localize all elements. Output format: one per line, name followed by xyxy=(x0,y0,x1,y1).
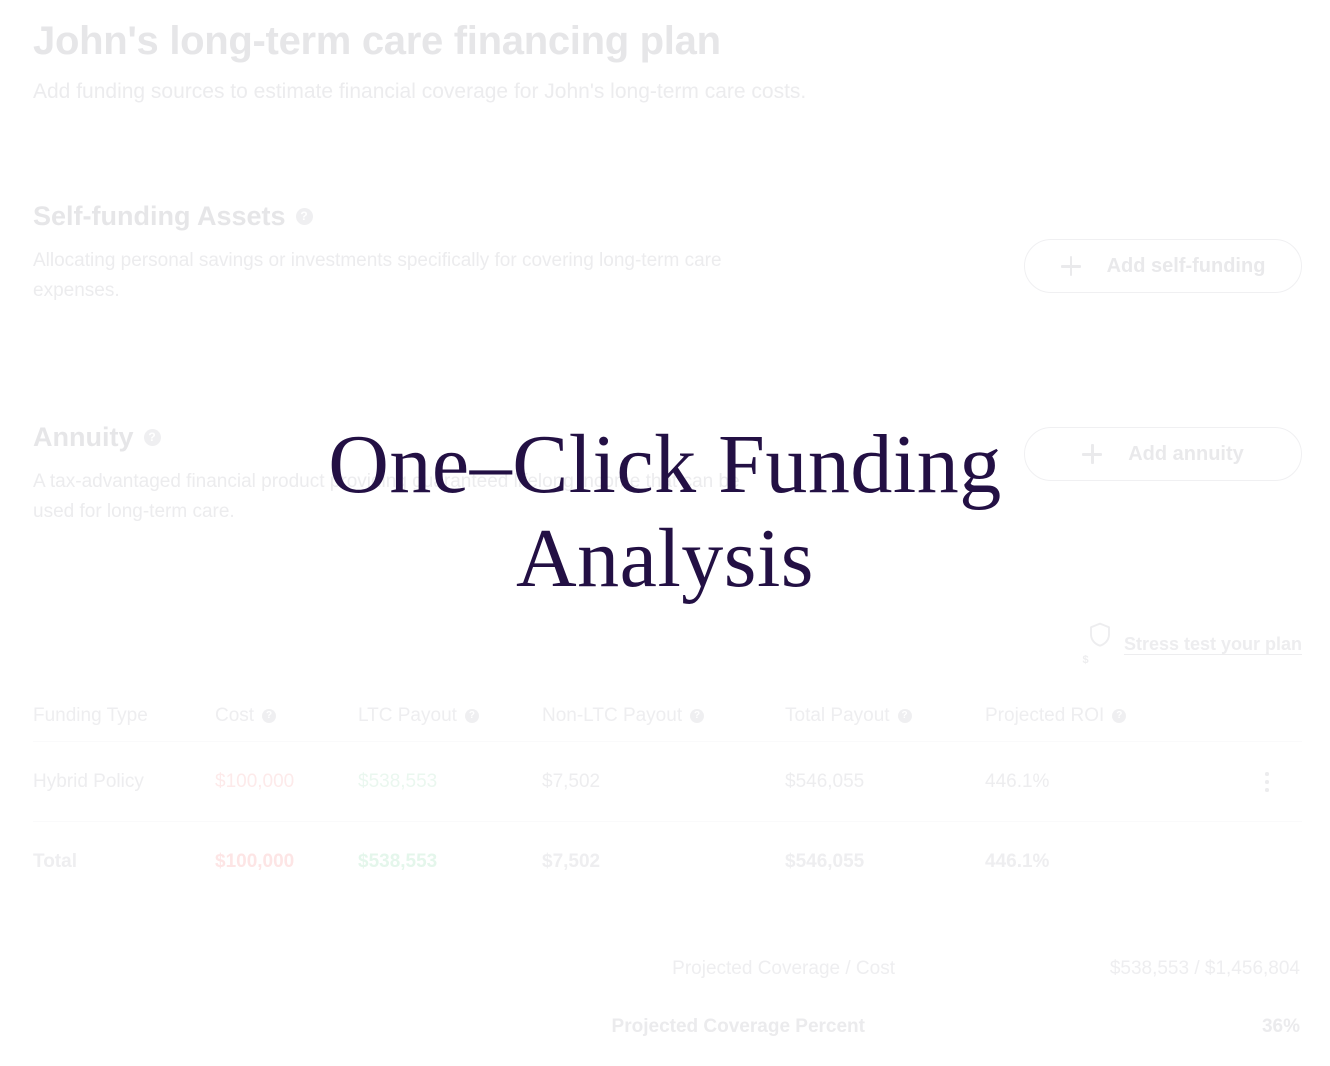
column-header-total-payout: Total Payout xyxy=(785,705,985,727)
summary-value: $538,553 / $1,456,804 xyxy=(895,958,1300,980)
column-header-funding-type: Funding Type xyxy=(33,705,215,727)
section-annuity-title-label: Annuity xyxy=(33,421,134,453)
section-self-funding-description: Allocating personal savings or investmen… xyxy=(33,246,783,305)
total-cost: $100,000 xyxy=(215,851,358,873)
help-circle-icon[interactable] xyxy=(144,429,161,446)
page-header: John's long-term care financing plan Add… xyxy=(33,18,1133,105)
summary-row-projected-coverage-percent: Projected Coverage Percent 36% xyxy=(0,998,1330,1056)
cell-total-payout: $546,055 xyxy=(785,771,985,793)
summary-label: Projected Coverage Percent xyxy=(33,1016,865,1038)
stress-test-link[interactable]: $ Stress test your plan xyxy=(1088,622,1302,666)
cell-non-ltc-payout: $7,502 xyxy=(542,771,785,793)
add-annuity-button[interactable]: Add annuity xyxy=(1024,427,1302,481)
help-circle-icon[interactable] xyxy=(465,709,479,723)
summary-label: Projected Coverage / Cost xyxy=(33,958,895,980)
help-circle-icon[interactable] xyxy=(898,709,912,723)
plus-icon xyxy=(1082,444,1102,464)
help-circle-icon[interactable] xyxy=(296,208,313,225)
total-non-ltc-payout: $7,502 xyxy=(542,851,785,873)
add-annuity-label: Add annuity xyxy=(1128,443,1244,466)
table-header-row: Funding Type Cost LTC Payout Non-LTC Pay… xyxy=(0,690,1330,742)
summary-value: 36% xyxy=(865,1016,1300,1038)
summary-footer: Projected Coverage / Cost $538,553 / $1,… xyxy=(0,940,1330,1056)
cell-cost: $100,000 xyxy=(215,771,358,793)
cell-ltc-payout: $538,553 xyxy=(358,771,542,793)
total-label: Total xyxy=(33,851,215,873)
section-annuity-title: Annuity xyxy=(33,421,833,453)
column-header-ltc-payout: LTC Payout xyxy=(358,705,542,727)
section-annuity-description: A tax-advantaged financial product provi… xyxy=(33,467,783,526)
shield-dollar-icon: $ xyxy=(1088,622,1112,666)
column-header-non-ltc-payout: Non-LTC Payout xyxy=(542,705,785,727)
table-row[interactable]: Hybrid Policy $100,000 $538,553 $7,502 $… xyxy=(0,742,1330,822)
section-self-funding-title: Self-funding Assets xyxy=(33,200,833,232)
page-title: John's long-term care financing plan xyxy=(33,18,1133,64)
section-annuity-text: Annuity A tax-advantaged financial produ… xyxy=(33,421,833,526)
cell-funding-type: Hybrid Policy xyxy=(33,771,215,793)
stress-test-label: Stress test your plan xyxy=(1124,634,1302,655)
help-circle-icon[interactable] xyxy=(262,709,276,723)
summary-row-projected-coverage-cost: Projected Coverage / Cost $538,553 / $1,… xyxy=(0,940,1330,998)
help-circle-icon[interactable] xyxy=(1112,709,1126,723)
section-self-funding-title-label: Self-funding Assets xyxy=(33,200,286,232)
page-subtitle: Add funding sources to estimate financia… xyxy=(33,78,1133,105)
total-total-payout: $546,055 xyxy=(785,851,985,873)
add-self-funding-label: Add self-funding xyxy=(1107,255,1266,278)
column-header-projected-roi: Projected ROI xyxy=(985,705,1235,727)
plus-icon xyxy=(1061,256,1081,276)
help-circle-icon[interactable] xyxy=(690,709,704,723)
cell-projected-roi: 446.1% xyxy=(985,771,1235,793)
funding-plan-page: John's long-term care financing plan Add… xyxy=(0,0,1330,1066)
funding-results-table: Funding Type Cost LTC Payout Non-LTC Pay… xyxy=(0,690,1330,902)
kebab-menu-icon[interactable] xyxy=(1256,771,1278,793)
svg-text:$: $ xyxy=(1082,654,1088,666)
section-self-funding-text: Self-funding Assets Allocating personal … xyxy=(33,200,833,305)
total-ltc-payout: $538,553 xyxy=(358,851,542,873)
table-total-row: Total $100,000 $538,553 $7,502 $546,055 … xyxy=(0,822,1330,902)
column-header-cost: Cost xyxy=(215,705,358,727)
total-projected-roi: 446.1% xyxy=(985,851,1235,873)
add-self-funding-button[interactable]: Add self-funding xyxy=(1024,239,1302,293)
